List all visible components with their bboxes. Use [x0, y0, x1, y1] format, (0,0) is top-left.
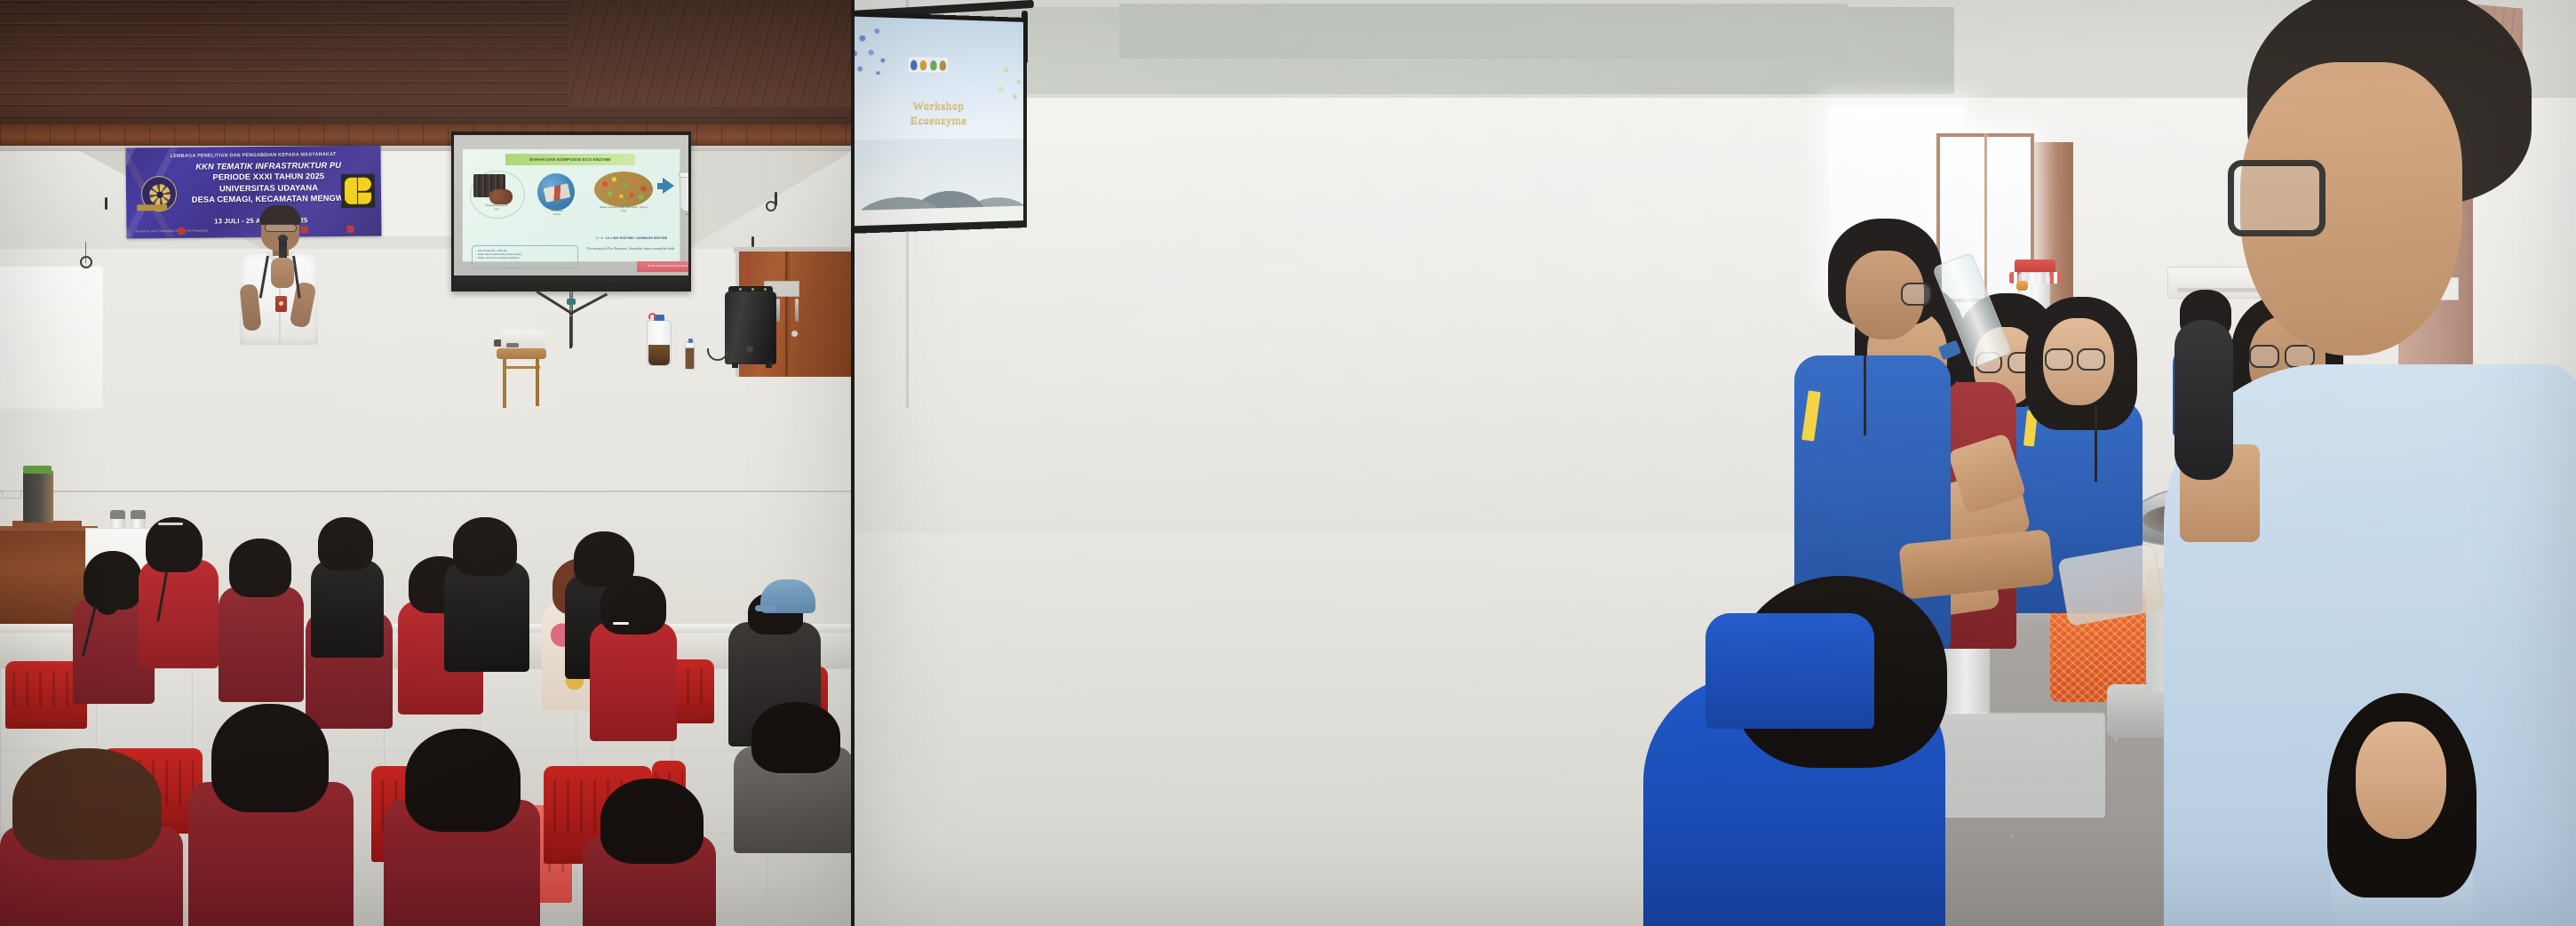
- ceiling-hook-left: [105, 197, 107, 210]
- door-lock-icon[interactable]: [791, 331, 798, 337]
- student-m-lanyard: [1864, 355, 1866, 435]
- person-13-hair: [211, 704, 329, 812]
- fermentation-container-icon: [680, 172, 688, 212]
- person-10-hair-clip: [613, 622, 629, 625]
- left-photo-presentation-session: LEMBAGA PENELITIAN DAN PENGABDIAN KEPADA…: [0, 0, 853, 926]
- batik-ornament-left-icon: [853, 20, 903, 84]
- banner-sponsor-logo-b: [300, 226, 307, 233]
- speaker-foot-left: [732, 363, 738, 368]
- presenter-hands: [271, 258, 294, 288]
- slide-logo-3-icon: [930, 60, 936, 69]
- speaker-knob-a[interactable]: [739, 288, 742, 291]
- pu-logo-shape-c: [358, 193, 371, 204]
- student-m-glasses: [1901, 283, 1931, 306]
- student-f2-glasses-right: [2077, 348, 2105, 371]
- slide-workshop-title: Workshop Ecoenzyme: [853, 97, 1023, 127]
- slide-title-line-2: Ecoenzyme: [910, 114, 966, 127]
- event-banner: LEMBAGA PENELITIAN DAN PENGABDIAN KEPADA…: [125, 146, 381, 239]
- pu-logo-shape-a: [345, 178, 357, 204]
- speaker-foot-right: [766, 363, 772, 368]
- right-photo-hands-on-practice: Workshop Ecoenzyme: [853, 0, 2576, 926]
- ingredient-label-3: Bahan Organik Segar (Kulit Buah / Sayur)…: [589, 206, 658, 212]
- person-10-hair: [600, 576, 666, 635]
- screen-bottom-bar: [454, 275, 688, 283]
- jug-handle: [648, 313, 656, 321]
- fruit-peel-in-jug-1: [2016, 281, 2028, 291]
- bahan-organik-image-icon: [594, 172, 653, 207]
- ingredient-label-1: Molase/Gula Merah 1 kg: [468, 204, 525, 211]
- person-7-hair: [453, 517, 517, 576]
- slide-title: BAHAN DAN KOMPOSISI ECO ENZYME: [505, 154, 635, 165]
- door-center-split: [785, 251, 790, 377]
- presenter-hair: [259, 205, 301, 225]
- slide-source-text: Sumber: Rumah Eco Enzyme Cemagi 2025: [648, 265, 688, 267]
- air-cucian-image-icon: [537, 173, 575, 211]
- presenter-glasses: [265, 224, 297, 232]
- wall-outlet[interactable]: [2, 491, 21, 499]
- clear-tray: [1919, 713, 2105, 818]
- slide-logo-2-icon: [920, 60, 926, 70]
- slide-source-tag: Sumber: Rumah Eco Enzyme Cemagi 2025: [637, 261, 688, 272]
- slide-mountain-landscape: [853, 139, 1023, 226]
- door-handle-right[interactable]: [795, 299, 799, 322]
- projector-table-rail: [503, 366, 540, 369]
- arrow-right-icon: [663, 178, 674, 194]
- student-f2-glasses: [2045, 348, 2073, 371]
- baseball-cap: [760, 579, 815, 613]
- screen-tripod-leg-center: [569, 316, 572, 348]
- speaker-brand-badge: [746, 346, 753, 353]
- water-bottle: [685, 341, 695, 370]
- projection-screen-right: Workshop Ecoenzyme: [853, 12, 1027, 234]
- bg-woman-face: [2356, 722, 2446, 839]
- projector-table-leg-right: [536, 358, 539, 406]
- banner-sponsor-logo-a: [178, 228, 185, 235]
- pu-logo-icon: [341, 174, 375, 208]
- door-handle-left[interactable]: [776, 299, 780, 322]
- bending-student-shoulder: [1705, 613, 1874, 729]
- person-5-hair: [318, 517, 373, 571]
- seal-ribbon: [137, 204, 167, 211]
- banner-institution-header: LEMBAGA PENELITIAN DAN PENGABDIAN KEPADA…: [126, 151, 381, 159]
- speaker-knob-b[interactable]: [751, 288, 754, 291]
- window-mullion: [1984, 133, 1987, 302]
- wall-seam-line: [0, 491, 853, 492]
- white-uniform-glasses-left: [2249, 345, 2279, 368]
- projector-table-leg-left: [503, 358, 506, 408]
- person-1-bun: [96, 592, 119, 615]
- foreground-man-glasses: [2228, 160, 2326, 236]
- banner-footer-text: Research and Community Service for Prosp…: [135, 229, 207, 234]
- person-5-torso: [311, 560, 384, 658]
- photo-pair-composition: LEMBAGA PENELITIAN DAN PENGABDIAN KEPADA…: [0, 0, 2576, 926]
- panel-divider: [851, 0, 855, 926]
- slide-title-line-1: Workshop: [912, 99, 964, 112]
- slide-logo-strip: [909, 57, 948, 72]
- eco-enzyme-liquid: [648, 345, 670, 365]
- person-15-hair: [12, 748, 162, 860]
- person-2-torso: [139, 560, 219, 668]
- slide-script-note: Fermentasi Eco Enzyme, Semakin lama sema…: [587, 245, 688, 251]
- projection-screen-canvas: BAHAN DAN KOMPOSISI ECO ENZYME Molase/Gu…: [454, 135, 688, 283]
- presenter-id-badge: [275, 296, 287, 312]
- ceiling-wood-slats-angled: [568, 0, 853, 107]
- person-10-torso: [590, 622, 677, 741]
- slide-note-3: - Tidak menerima cahaya berlebihan: [476, 256, 574, 259]
- person-3-hair: [229, 539, 291, 597]
- screen-tripod-knob[interactable]: [567, 299, 576, 305]
- person-12-hair: [751, 702, 840, 773]
- pu-logo-shape-b: [358, 178, 371, 191]
- ceiling-hook-mid: [751, 236, 754, 247]
- ceiling-recess-inner: [1119, 4, 1848, 59]
- wall-light-panel: [0, 267, 103, 409]
- student-f2-lanyard: [2095, 405, 2097, 482]
- projector: [501, 331, 545, 350]
- ingredient-label-4: Fermentasi Air Kelapa: [671, 213, 688, 217]
- person-3-torso: [219, 587, 304, 702]
- ceiling-trim-band: [0, 124, 853, 148]
- planter-grass: [23, 466, 52, 474]
- hook-ring-right: [766, 201, 776, 212]
- planter-box: [23, 471, 53, 523]
- person-2-hair-clip: [158, 523, 183, 525]
- banner-sponsor-logo-c: [346, 226, 354, 233]
- person-2-hair: [146, 517, 203, 572]
- ingredient-label-2: Air Cucian 10 liter: [534, 210, 580, 216]
- slide-logo-1-icon: [910, 60, 917, 70]
- gula-merah-image-icon: [489, 189, 513, 204]
- slide-workshop-ecoenzyme: Workshop Ecoenzyme: [853, 16, 1023, 226]
- person-14-hair: [405, 729, 521, 832]
- speaker-knob-c[interactable]: [764, 288, 767, 291]
- slide-eco-enzyme-composition: BAHAN DAN KOMPOSISI ECO ENZYME Molase/Gu…: [462, 148, 680, 262]
- person-7-torso: [444, 562, 529, 672]
- person-16-hair: [600, 778, 704, 864]
- hook-ring-left: [80, 256, 92, 268]
- slide-ratio-note: 1 : 3 : 10 = BIO ENZYME / GARBAGE ENZYME: [596, 236, 667, 240]
- pa-speaker: [725, 291, 776, 364]
- foreground-man-microphone: [2174, 320, 2233, 480]
- slide-notes-box: - Fermentasi 90 - 100 Hari - Tidak ada k…: [472, 245, 578, 268]
- projection-screen-left: BAHAN DAN KOMPOSISI ECO ENZYME Molase/Gu…: [451, 132, 691, 291]
- slide-logo-4-icon: [940, 60, 946, 70]
